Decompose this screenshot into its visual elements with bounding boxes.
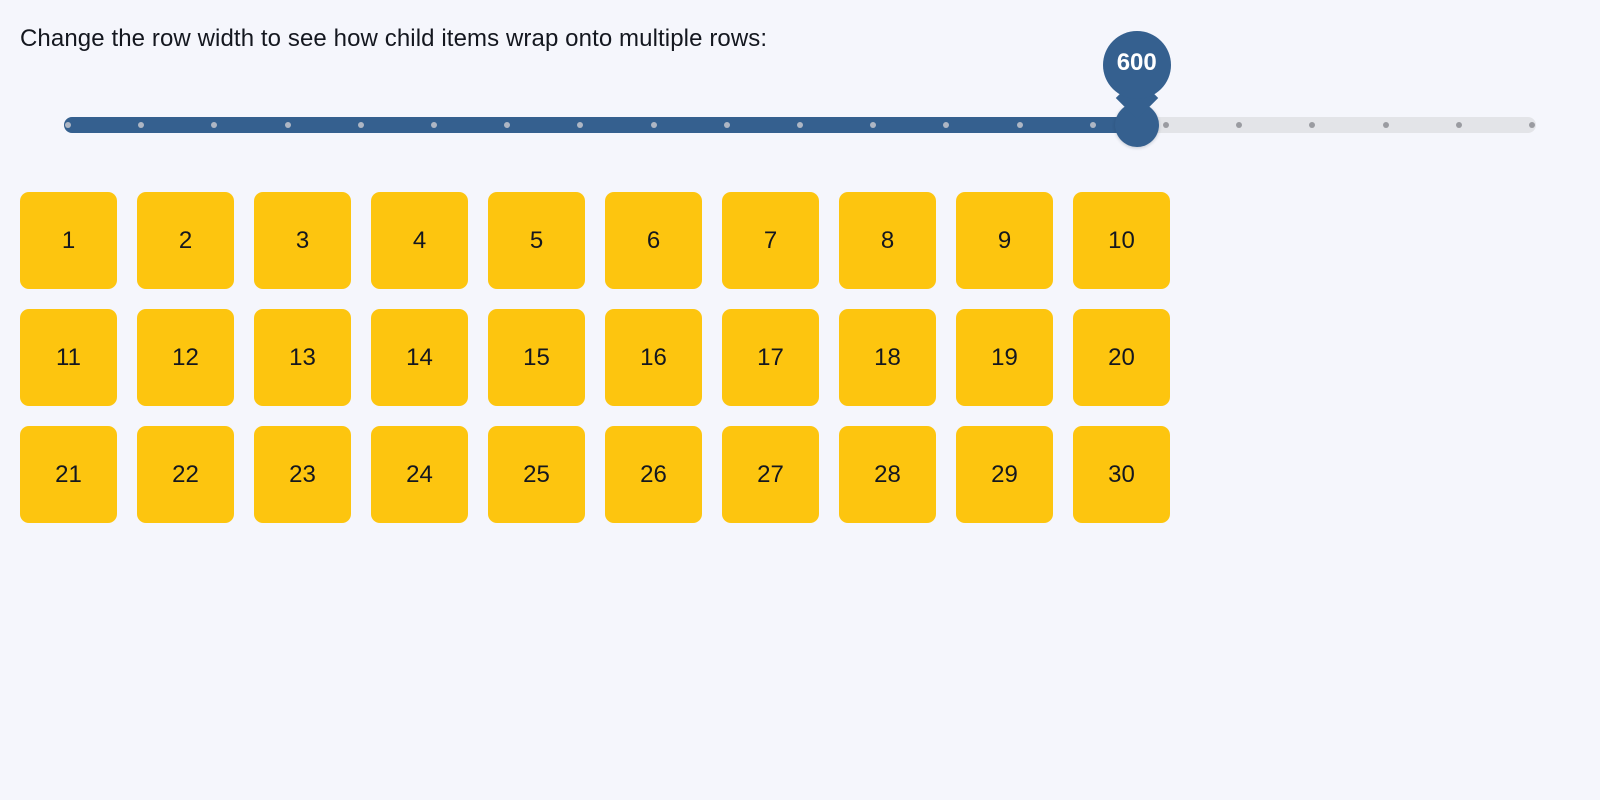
slider-tick <box>943 122 949 128</box>
flex-item: 29 <box>956 426 1053 523</box>
wrapping-row: 1234567891011121314151617181920212223242… <box>20 192 1170 523</box>
slider-tick <box>65 122 71 128</box>
slider-tick <box>1090 122 1096 128</box>
slider-tick <box>358 122 364 128</box>
flex-item: 14 <box>371 309 468 406</box>
row-width-slider[interactable]: 600 <box>64 117 1536 133</box>
flex-item: 5 <box>488 192 585 289</box>
flex-item: 19 <box>956 309 1053 406</box>
slider-tick <box>577 122 583 128</box>
slider-tick <box>1529 122 1535 128</box>
slider-tick <box>431 122 437 128</box>
flex-item: 20 <box>1073 309 1170 406</box>
slider-tick <box>1383 122 1389 128</box>
flex-item: 24 <box>371 426 468 523</box>
flex-item: 17 <box>722 309 819 406</box>
flex-item: 28 <box>839 426 936 523</box>
flex-item: 22 <box>137 426 234 523</box>
slider-tick <box>1456 122 1462 128</box>
slider-tick <box>1236 122 1242 128</box>
slider-value-label: 600 <box>1103 31 1171 95</box>
flex-item: 8 <box>839 192 936 289</box>
flex-item: 9 <box>956 192 1053 289</box>
slider-tick <box>870 122 876 128</box>
flex-item: 23 <box>254 426 351 523</box>
slider-value-tooltip: 600 <box>1103 31 1171 113</box>
flex-item: 3 <box>254 192 351 289</box>
flex-item: 26 <box>605 426 702 523</box>
slider-tick <box>651 122 657 128</box>
flex-item: 10 <box>1073 192 1170 289</box>
flex-item: 30 <box>1073 426 1170 523</box>
flex-item: 2 <box>137 192 234 289</box>
slider-tick-marks <box>64 117 1536 133</box>
flex-item: 25 <box>488 426 585 523</box>
flex-item: 1 <box>20 192 117 289</box>
slider-tick <box>724 122 730 128</box>
tooltip-bubble <box>1103 31 1171 99</box>
page-title: Change the row width to see how child it… <box>20 25 767 53</box>
slider-tick <box>504 122 510 128</box>
flex-item: 7 <box>722 192 819 289</box>
flex-item: 11 <box>20 309 117 406</box>
slider-tick <box>797 122 803 128</box>
slider-tick <box>211 122 217 128</box>
slider-tick <box>285 122 291 128</box>
flex-item: 12 <box>137 309 234 406</box>
slider-tick <box>1163 122 1169 128</box>
flex-item: 4 <box>371 192 468 289</box>
flex-item: 18 <box>839 309 936 406</box>
slider-tick <box>138 122 144 128</box>
flex-item: 13 <box>254 309 351 406</box>
flex-item: 21 <box>20 426 117 523</box>
flex-item: 15 <box>488 309 585 406</box>
flex-item: 6 <box>605 192 702 289</box>
slider-tick <box>1309 122 1315 128</box>
flex-item: 27 <box>722 426 819 523</box>
flex-item: 16 <box>605 309 702 406</box>
slider-tick <box>1017 122 1023 128</box>
slider-thumb[interactable] <box>1115 103 1159 147</box>
